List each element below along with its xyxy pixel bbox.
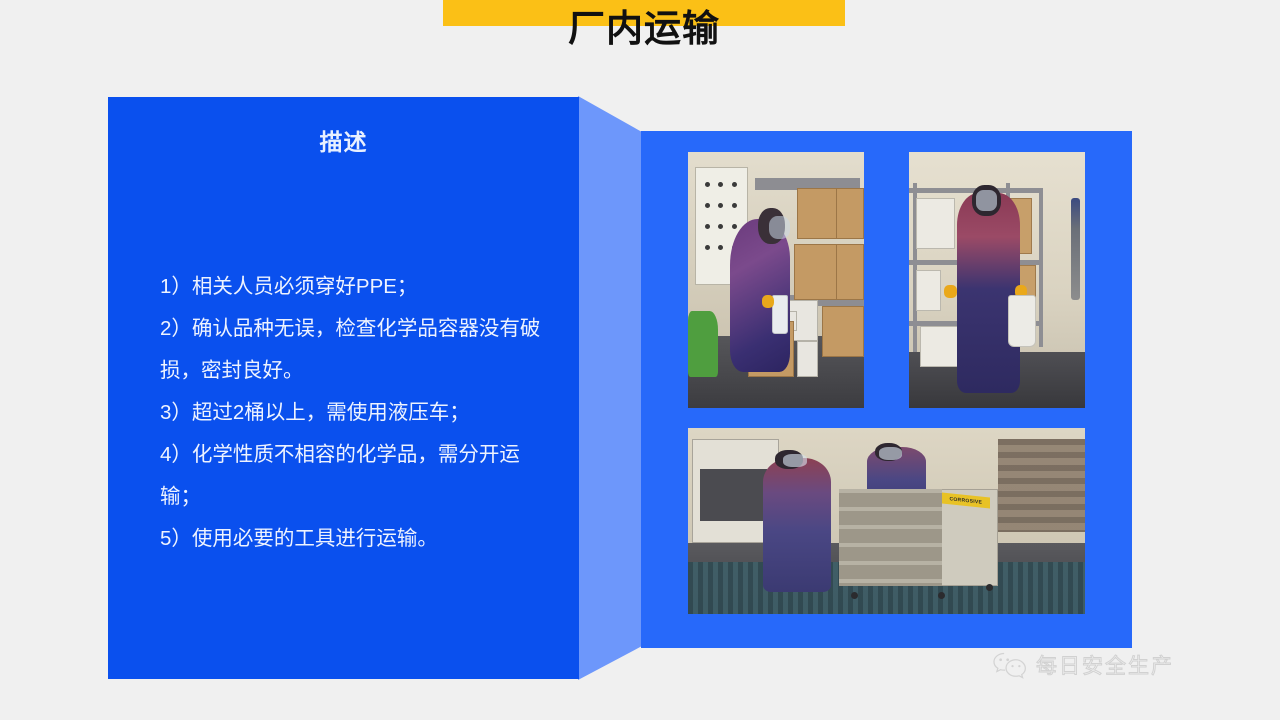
list-item: 3）超过2桶以上，需使用液压车； [160,392,560,434]
photo-worker-carrying-container [909,152,1085,408]
wechat-icon [992,650,1028,680]
list-item: 2）确认品种无误，检查化学品容器没有破损，密封良好。 [160,308,560,392]
description-panel: 描述 1）相关人员必须穿好PPE； 2）确认品种无误，检查化学品容器没有破损，密… [108,96,642,680]
photo-worker-loading-boxes [688,152,864,408]
watermark-text: 每日安全生产 [1036,650,1174,680]
list-item: 1）相关人员必须穿好PPE； [160,266,560,308]
photo-two-workers-corrosive-cart: CORROSIVE [688,428,1085,614]
page-title: 厂内运输 [443,6,845,52]
description-heading: 描述 [108,123,579,157]
photo-panel: CORROSIVE [641,131,1132,648]
list-item: 4）化学性质不相容的化学品，需分开运输； [160,434,560,518]
slide-root: 厂内运输 描述 1）相关人员必须穿好PPE； 2）确认品种无误，检查化学品容器没… [0,0,1280,720]
watermark: 每日安全生产 [992,650,1174,680]
list-item: 5）使用必要的工具进行运输。 [160,518,560,560]
description-list: 1）相关人员必须穿好PPE； 2）确认品种无误，检查化学品容器没有破损，密封良好… [160,266,560,560]
